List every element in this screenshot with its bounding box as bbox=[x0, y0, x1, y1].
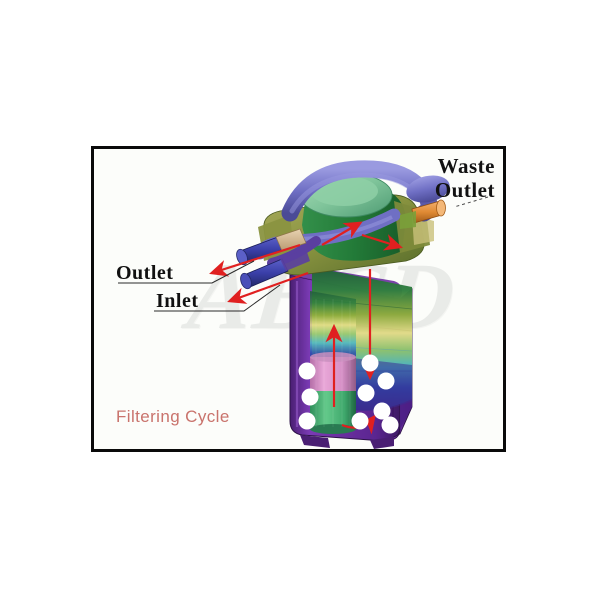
label-inlet: Inlet bbox=[156, 290, 199, 313]
label-waste-line2: Outlet bbox=[435, 179, 495, 203]
port-hole bbox=[352, 413, 369, 430]
port-hole bbox=[378, 373, 395, 390]
port-hole bbox=[382, 417, 399, 434]
caption-filtering-cycle: Filtering Cycle bbox=[116, 407, 230, 427]
port-hole bbox=[299, 363, 316, 380]
label-waste-line1: Waste bbox=[435, 155, 495, 179]
label-waste-outlet: Waste Outlet bbox=[435, 155, 495, 202]
port-hole bbox=[302, 389, 319, 406]
port-hole bbox=[299, 413, 316, 430]
port-hole bbox=[358, 385, 375, 402]
port-hole bbox=[362, 355, 379, 372]
image-canvas: ABCD bbox=[0, 0, 600, 600]
label-outlet: Outlet bbox=[116, 262, 173, 285]
illustration-frame: ABCD bbox=[91, 146, 506, 452]
